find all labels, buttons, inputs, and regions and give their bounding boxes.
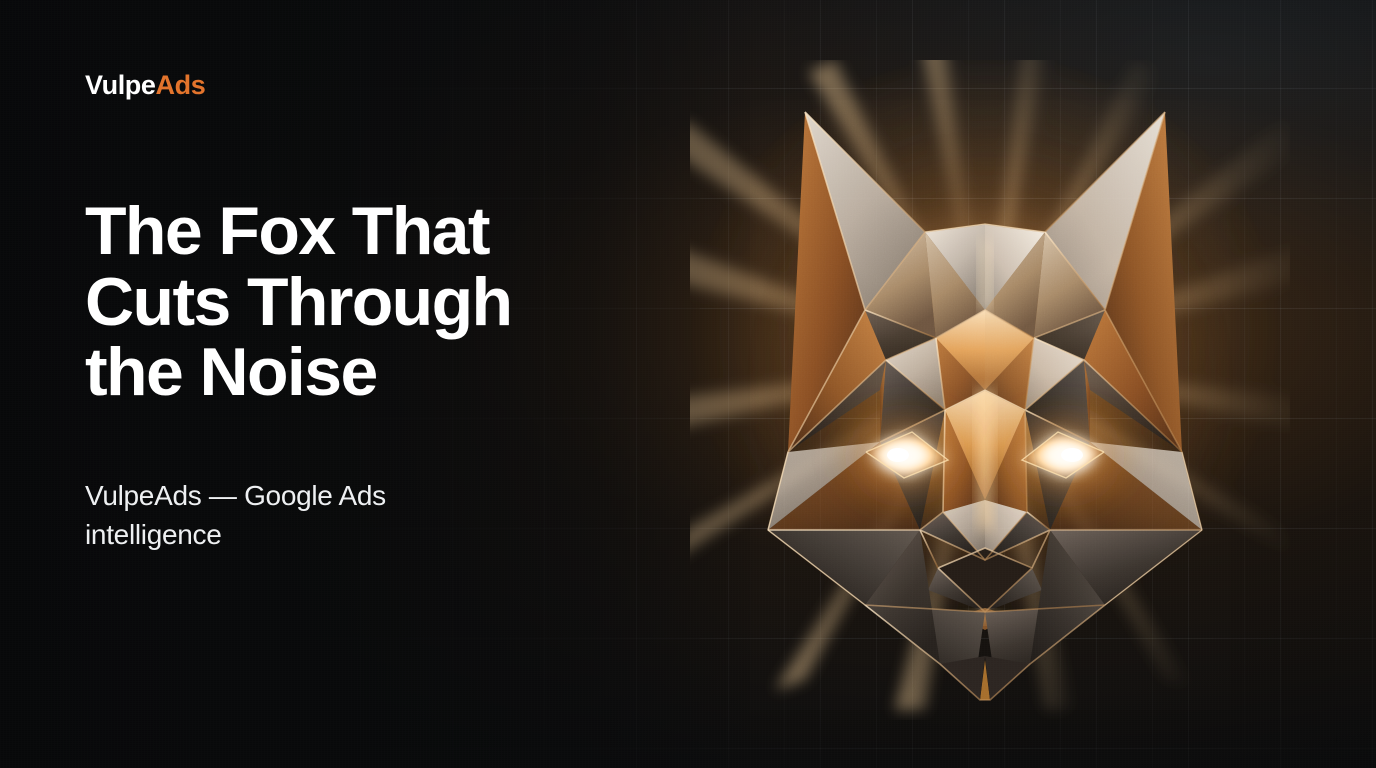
hero-subhead: VulpeAds — Google Ads intelligence [85,476,525,554]
headline-line-2: Cuts Through [85,264,512,340]
brand-logo-primary: Vulpe [85,70,156,100]
headline-line-1: The Fox That [85,193,489,269]
headline-line-3: the Noise [85,334,377,410]
hero-headline: The Fox That Cuts Through the Noise [85,196,645,408]
brand-logo-accent: Ads [156,70,206,100]
hero-slide: VulpeAds The Fox That Cuts Through the N… [0,0,1376,768]
brand-logo[interactable]: VulpeAds [85,72,205,99]
fox-artwork [690,60,1290,720]
fox-surface-texture [750,100,1230,710]
